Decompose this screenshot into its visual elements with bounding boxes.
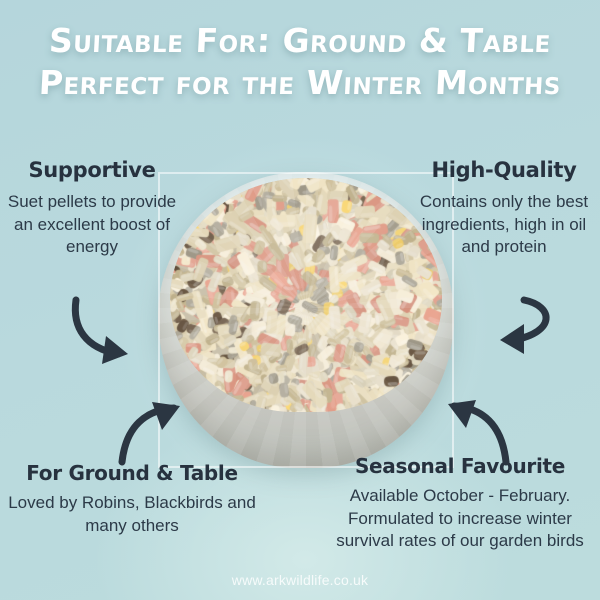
title-line-2: Perfect for the Winter Months	[0, 64, 600, 102]
curved-arrow-up-right-icon	[112, 396, 212, 470]
curved-arrow-down-left-icon	[470, 296, 570, 370]
feature-body-high-quality: Contains only the best ingredients, high…	[414, 191, 594, 259]
feature-heading-high-quality: High-Quality	[414, 158, 594, 182]
title-line-1: Suitable For: Ground & Table	[0, 22, 600, 60]
feature-body-ground-table: Loved by Robins, Blackbirds and many oth…	[4, 492, 260, 537]
seed-mix-texture	[170, 178, 442, 412]
curved-arrow-up-left-icon	[424, 396, 524, 470]
curved-arrow-down-right-icon	[66, 292, 176, 372]
feature-heading-supportive: Supportive	[6, 158, 178, 182]
bird-seed-mix	[170, 178, 442, 412]
website-url: www.arkwildlife.co.uk	[0, 572, 600, 588]
feature-body-seasonal-favourite: Available October - February. Formulated…	[324, 485, 596, 553]
feature-body-supportive: Suet pellets to provide an excellent boo…	[6, 191, 178, 259]
poster-canvas: Suitable For: Ground & Table Perfect for…	[0, 0, 600, 600]
feature-block-ground-table: For Ground & Table Loved by Robins, Blac…	[4, 462, 260, 537]
poster-title: Suitable For: Ground & Table Perfect for…	[0, 22, 600, 101]
feature-block-high-quality: High-Quality Contains only the best ingr…	[414, 158, 594, 259]
feature-block-supportive: Supportive Suet pellets to provide an ex…	[6, 158, 178, 259]
